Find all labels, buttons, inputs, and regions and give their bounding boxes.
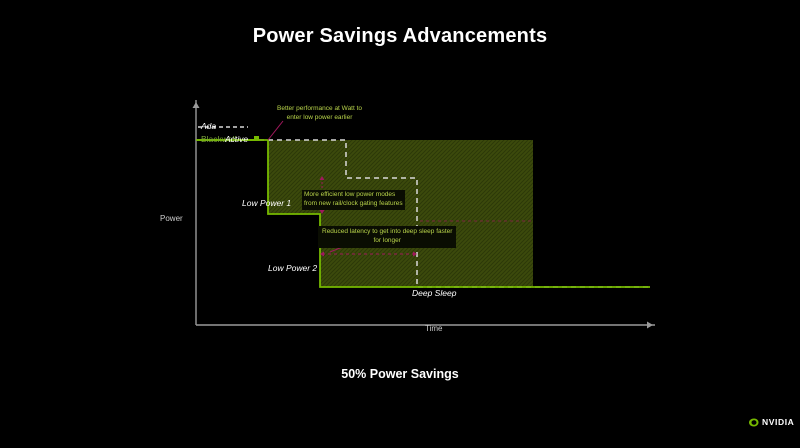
callout-2-line-2: from new rail/clock gating features [304,200,403,209]
slide-canvas: Power Savings Advancements [0,0,800,448]
power-savings-summary: 50% Power Savings [0,367,800,381]
callout-1-line-2: enter low power earlier [277,114,362,123]
state-label-low-power-2: Low Power 2 [268,263,317,273]
legend-item-ada: Ada [201,121,216,131]
callout-performance-per-watt: Better performance at Watt to enter low … [277,105,362,123]
callout-1-leader [268,121,283,140]
callout-reduced-latency: Reduced latency to get into deep sleep f… [318,226,456,248]
nvidia-logo: NVIDIA [748,417,794,427]
blackwell-fill-region [196,140,533,287]
callout-2-line-1: More efficient low power modes [304,191,403,200]
state-label-deep-sleep: Deep Sleep [412,288,456,298]
callout-1-line-1: Better performance at Watt to [277,105,362,114]
nvidia-wordmark: NVIDIA [762,417,794,427]
nvidia-eye-icon [748,418,759,427]
state-label-low-power-1: Low Power 1 [242,198,291,208]
callout-3-line-2: for longer [322,237,452,246]
x-axis-label: Time [425,324,442,333]
y-axis-label: Power [160,214,183,223]
callout-3-line-1: Reduced latency to get into deep sleep f… [322,228,452,237]
callout-low-power-modes: More efficient low power modes from new … [302,190,405,210]
state-label-active: Active [225,134,248,144]
